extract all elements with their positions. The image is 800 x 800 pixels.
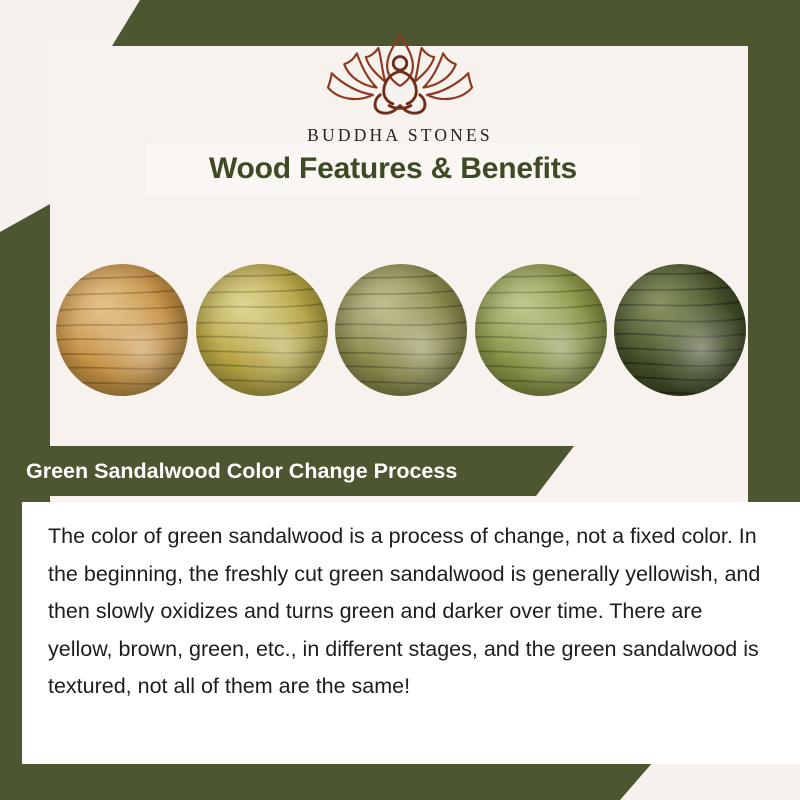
page-title: Wood Features & Benefits	[209, 152, 577, 186]
bead-sheen	[56, 264, 188, 396]
lotus-meditation-figure-icon	[310, 29, 490, 121]
bead-stage-5-dark-forest-green	[614, 264, 746, 396]
bead-sheen	[196, 264, 328, 396]
section-banner: Green Sandalwood Color Change Process	[0, 446, 574, 496]
bead-stage-4-moss-green	[475, 264, 607, 396]
title-banner: Wood Features & Benefits	[146, 143, 640, 195]
brand-logo-block: BUDDHA STONES	[0, 0, 800, 150]
description-panel: The color of green sandalwood is a proce…	[22, 502, 800, 764]
bead-sheen	[335, 264, 467, 396]
section-heading: Green Sandalwood Color Change Process	[0, 459, 457, 484]
bead-stage-1-yellow-brown	[56, 264, 188, 396]
bead-sheen	[475, 264, 607, 396]
bead-row	[48, 232, 754, 428]
bead-stage-3-olive-khaki	[335, 264, 467, 396]
bead-sheen	[614, 264, 746, 396]
infographic-root: BUDDHA STONES Wood Features & Benefits	[0, 0, 800, 800]
bead-gallery	[48, 232, 754, 428]
bead-stage-2-yellow-olive	[196, 264, 328, 396]
description-paragraph: The color of green sandalwood is a proce…	[48, 518, 766, 706]
